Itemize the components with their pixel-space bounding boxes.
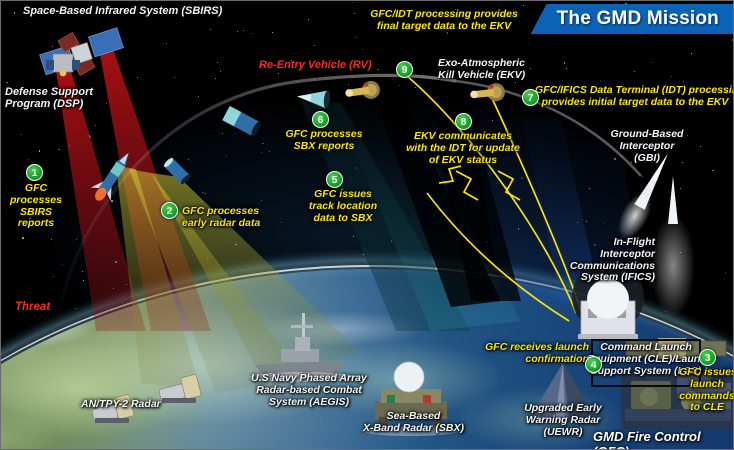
- step-text-8: EKV communicates with the IDT for update…: [397, 131, 529, 166]
- threat-stage-1-icon: [163, 157, 192, 186]
- step-badge-8[interactable]: 8: [455, 113, 472, 130]
- gbi-launch-icon: [651, 176, 695, 318]
- ekv-icon-9: [344, 80, 381, 103]
- step-badge-9[interactable]: 9: [396, 61, 413, 78]
- step-badge-1[interactable]: 1: [26, 164, 43, 181]
- label-dsp: Defense Support Program (DSP): [5, 86, 93, 111]
- label-ifics: In-Flight Interceptor Communications Sys…: [549, 237, 655, 284]
- label-an-tpy2: AN/TPY-2 Radar: [81, 399, 161, 411]
- label-sbx: Sea-Based X-Band Radar (SBX): [341, 411, 486, 435]
- step-text-3: GFC issues launch commands to CLE: [679, 367, 734, 414]
- step-badge-6[interactable]: 6: [312, 111, 329, 128]
- gmd-mission-infographic: The GMD Mission Space-Based Infrared Sys…: [0, 0, 734, 450]
- label-launch-confirmation: GFC receives launch confirmation: [479, 342, 589, 366]
- step-badge-4[interactable]: 4: [585, 356, 602, 373]
- threat-missile-boost-icon: [87, 146, 139, 207]
- title-banner: The GMD Mission: [531, 4, 733, 34]
- label-ekv: Exo-Atmospheric Kill Vehicle (EKV): [438, 58, 525, 82]
- step-badge-7[interactable]: 7: [522, 89, 539, 106]
- threat-stage-2-icon: [222, 106, 262, 137]
- step-text-2: GFC processes early radar data: [182, 206, 260, 230]
- re-entry-vehicle-icon: [296, 87, 331, 108]
- step-badge-3[interactable]: 3: [699, 349, 716, 366]
- label-sbirs: Space-Based Infrared System (SBIRS): [23, 5, 203, 17]
- label-gmd-fire-control: GMD Fire Control (GFC): [593, 429, 733, 450]
- label-gbi: Ground-Based Interceptor (GBI): [597, 129, 697, 164]
- step-badge-2[interactable]: 2: [161, 202, 178, 219]
- banner-title: The GMD Mission: [557, 8, 719, 30]
- an-tpy2-radar-icon-2: [159, 374, 202, 403]
- label-idt-initial-target: GFC/IFICS Data Terminal (IDT) processing…: [535, 85, 734, 109]
- step-text-1: GFC processes SBIRS reports: [5, 183, 67, 230]
- step-text-5: GFC issues track location data to SBX: [297, 189, 389, 224]
- label-threat: Threat: [15, 301, 50, 314]
- label-aegis: U.S Navy Phased Array Radar-based Combat…: [229, 373, 389, 408]
- ekv-icon-7: [469, 82, 505, 104]
- label-re-entry-vehicle: Re-Entry Vehicle (RV): [259, 59, 372, 71]
- label-idt-final-target: GFC/IDT processing provides final target…: [339, 9, 549, 33]
- step-badge-5[interactable]: 5: [326, 171, 343, 188]
- sbirs-satellite-icon: [36, 19, 127, 85]
- step-text-6: GFC processes SBX reports: [277, 129, 371, 153]
